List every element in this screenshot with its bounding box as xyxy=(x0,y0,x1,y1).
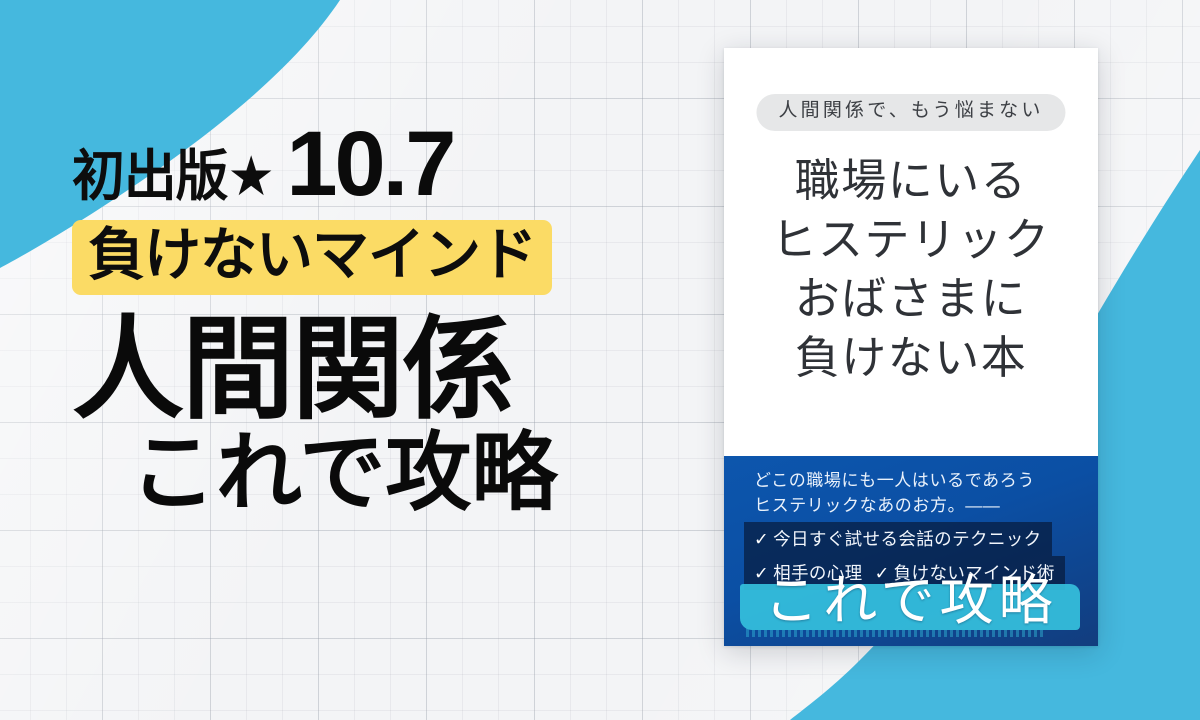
book-obi-band: どこの職場にも一人はいるであろう ヒステリックなあのお方。—— ✓今日すぐ試せる… xyxy=(724,456,1098,646)
book-title-line-2: ヒステリック xyxy=(724,211,1098,270)
book-title-line-4: 負けない本 xyxy=(724,329,1098,388)
book-tagline-pill: 人間関係で、もう悩まない xyxy=(756,94,1065,131)
kicker-row: 初出版★ 10.7 xyxy=(72,118,672,214)
check-icon: ✓ xyxy=(754,529,769,549)
book-tagline-text: 人間関係で、もう悩まない xyxy=(778,100,1043,121)
highlight-banner-text: 負けないマインド xyxy=(88,227,536,284)
band-lead-line-1: どこの職場にも一人はいるであろう xyxy=(754,469,1035,494)
promo-banner: 初出版★ 10.7 負けないマインド 人間関係 これで攻略 人間関係で、もう悩ま… xyxy=(0,0,1200,720)
band-feature-chip-1: ✓今日すぐ試せる会話のテクニック xyxy=(744,522,1052,556)
headline-primary: 人間関係 xyxy=(72,313,672,427)
kicker-label: 初出版★ xyxy=(72,149,274,204)
band-feature-chip-1-text: 今日すぐ試せる会話のテクニック xyxy=(773,529,1042,549)
book-title-line-3: おばさまに xyxy=(724,270,1098,329)
highlight-banner: 負けないマインド xyxy=(72,220,552,295)
book-title: 職場にいる ヒステリック おばさまに 負けない本 xyxy=(724,152,1098,388)
left-copy-block: 初出版★ 10.7 負けないマインド 人間関係 これで攻略 xyxy=(72,118,672,519)
band-lead-line-2: ヒステリックなあのお方。—— xyxy=(754,494,1035,519)
band-slogan: これで攻略 xyxy=(724,574,1098,628)
headline-secondary: これで攻略 xyxy=(130,429,672,518)
release-date-number: 10.7 xyxy=(286,118,453,210)
book-cover[interactable]: 人間関係で、もう悩まない 職場にいる ヒステリック おばさまに 負けない本 野村… xyxy=(724,48,1098,646)
book-title-line-1: 職場にいる xyxy=(724,152,1098,211)
band-lead-text: どこの職場にも一人はいるであろう ヒステリックなあのお方。—— xyxy=(754,469,1035,518)
